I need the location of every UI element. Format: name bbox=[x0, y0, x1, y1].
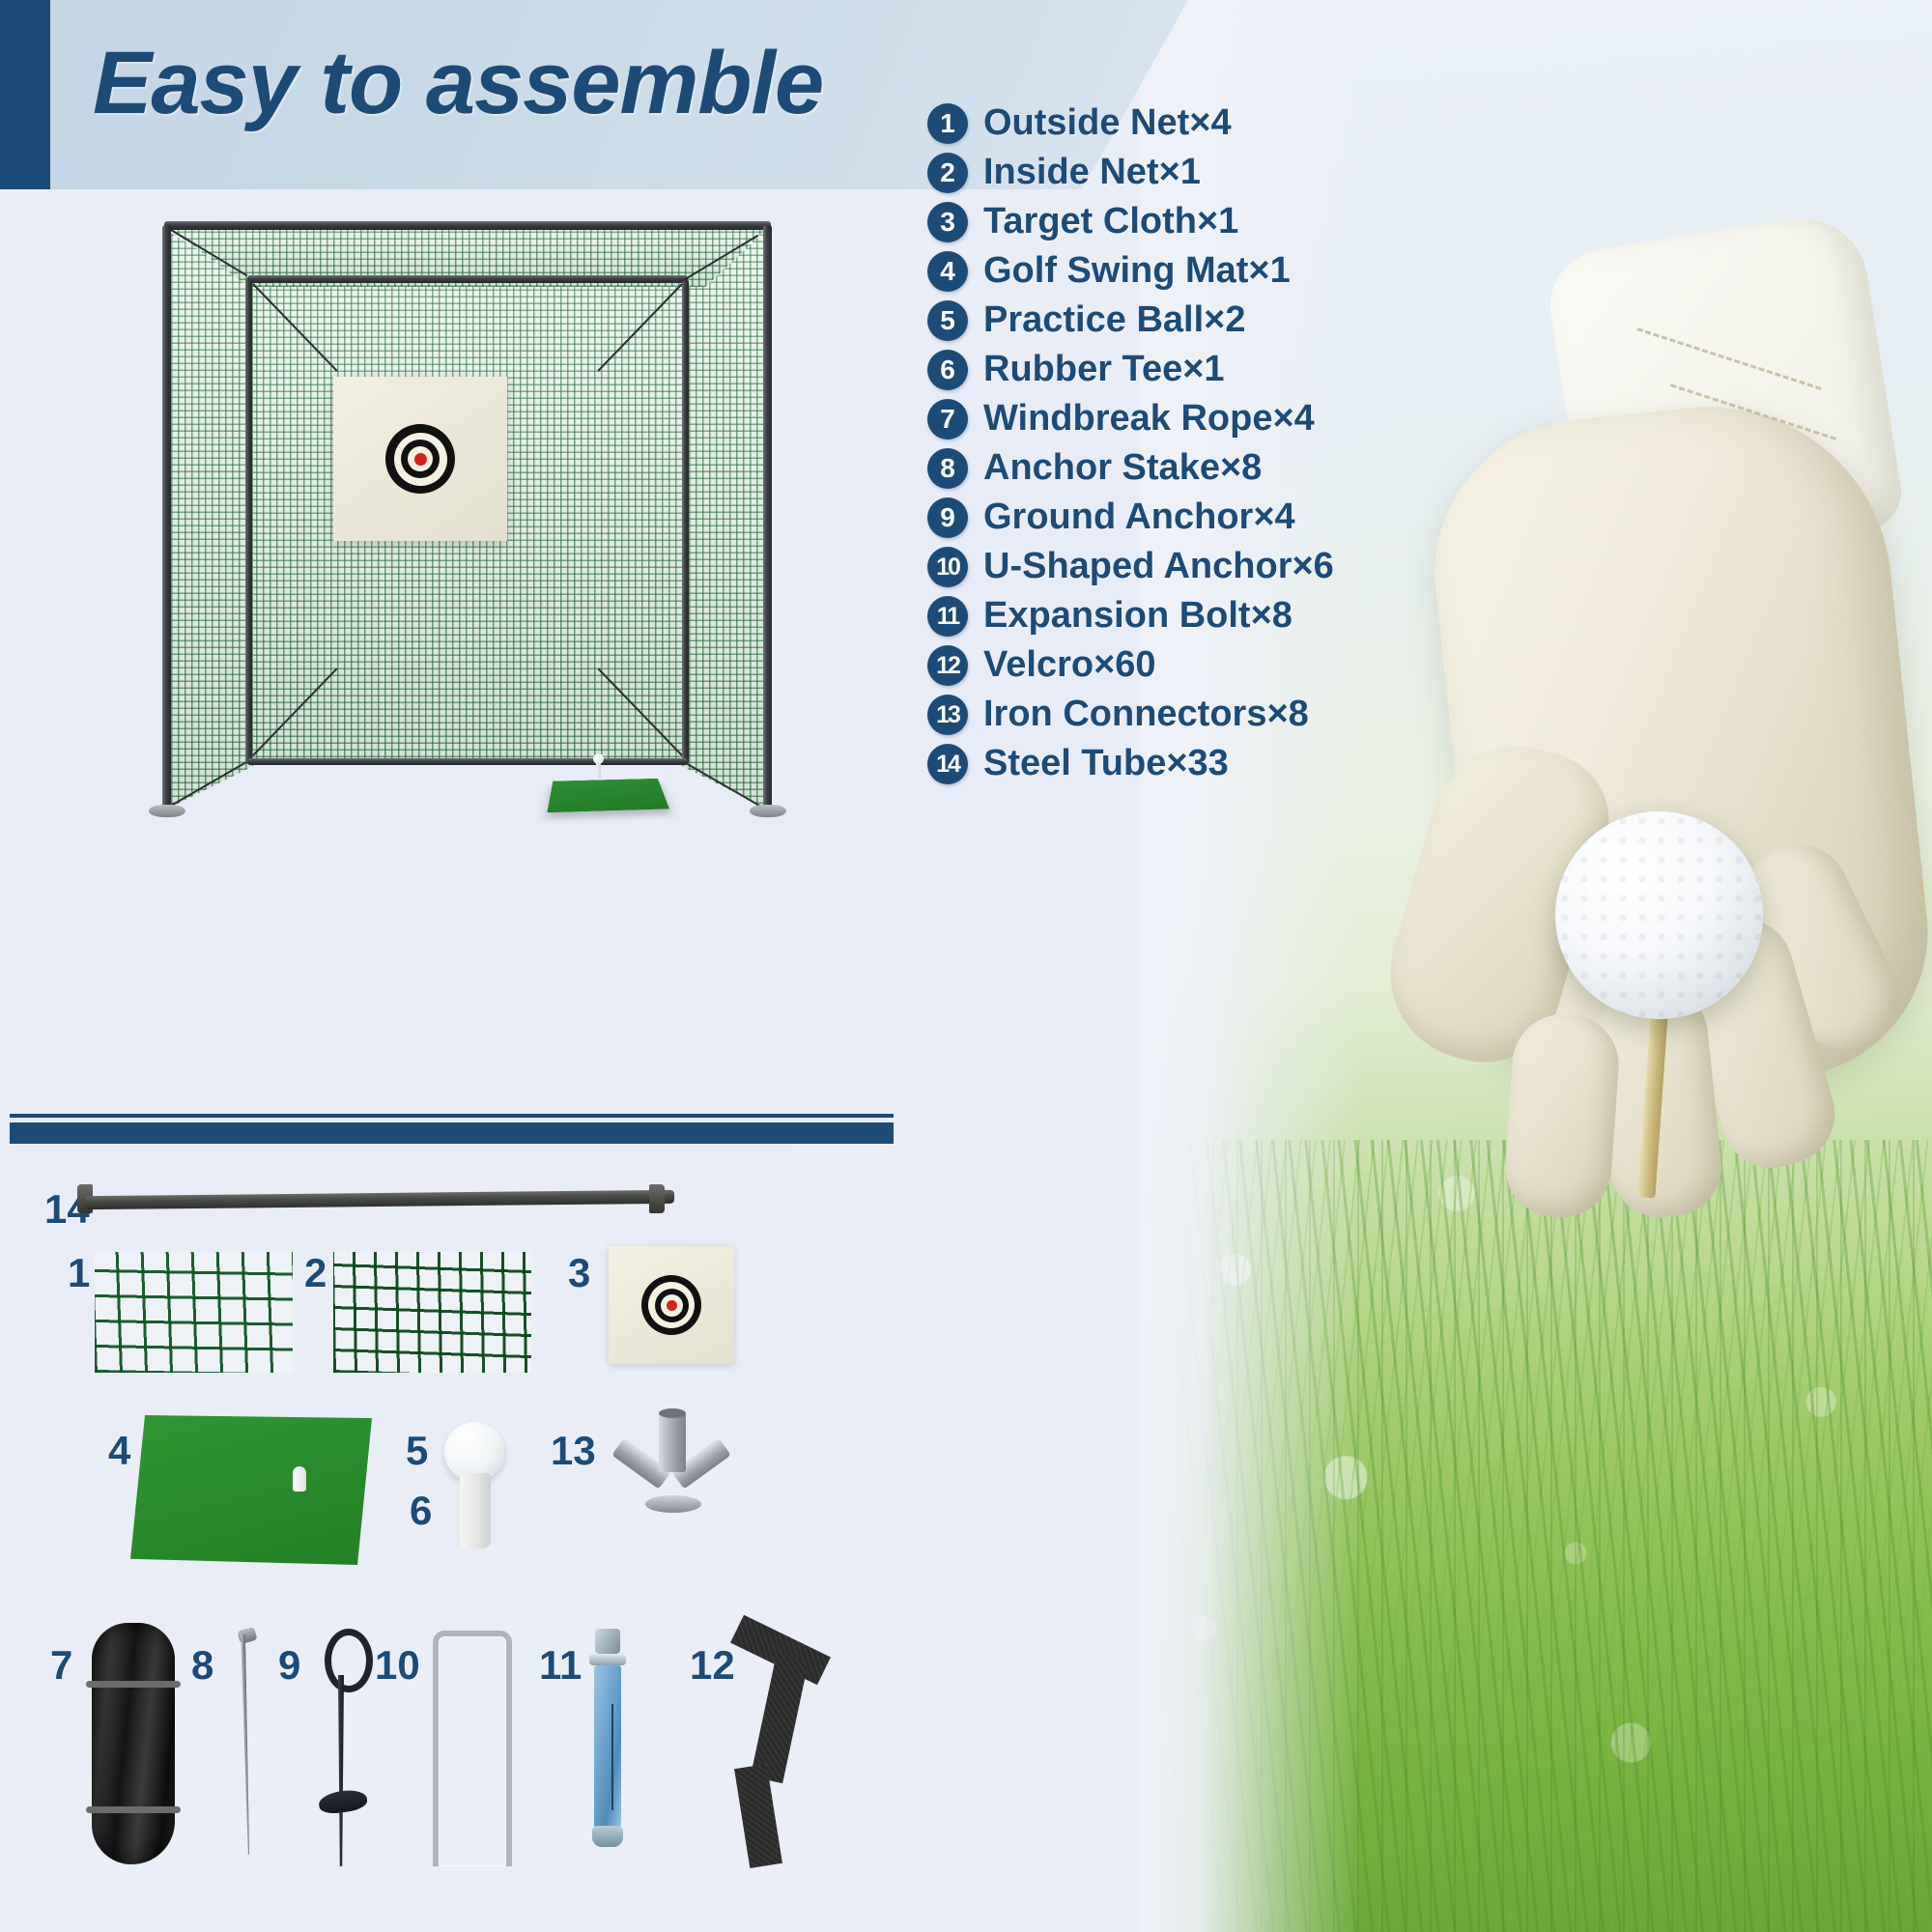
list-item: 12Velcro×60 bbox=[927, 640, 1468, 690]
list-item-label: Inside Net×1 bbox=[983, 152, 1201, 193]
list-item-label: Velcro×60 bbox=[983, 644, 1156, 686]
list-number-badge: 3 bbox=[927, 202, 968, 242]
part-number-inside-net: 2 bbox=[304, 1250, 327, 1296]
anchor-stake-head bbox=[237, 1627, 257, 1644]
list-item: 4Golf Swing Mat×1 bbox=[927, 246, 1468, 296]
section-divider-bar bbox=[10, 1122, 894, 1144]
rubber-tee-part bbox=[460, 1473, 491, 1548]
list-number-badge: 4 bbox=[927, 251, 968, 292]
list-item-label: Golf Swing Mat×1 bbox=[983, 250, 1291, 292]
list-item: 1Outside Net×4 bbox=[927, 99, 1468, 148]
golf-swing-mat-in-scene bbox=[547, 779, 669, 812]
part-number-iron-connector: 13 bbox=[551, 1428, 596, 1474]
list-item: 7Windbreak Rope×4 bbox=[927, 394, 1468, 443]
iron-connector-part bbox=[609, 1412, 734, 1526]
list-item-label: Steel Tube×33 bbox=[983, 743, 1229, 784]
part-number-u-shaped-anchor: 10 bbox=[375, 1642, 420, 1689]
list-number-badge: 11 bbox=[927, 596, 968, 637]
banner-left-accent-bar bbox=[0, 0, 50, 189]
cage-back-right-post bbox=[682, 279, 689, 764]
cage-front-left-post bbox=[162, 225, 171, 810]
part-number-outside-net: 1 bbox=[68, 1250, 90, 1296]
list-number-badge: 7 bbox=[927, 399, 968, 440]
velcro-strip-part bbox=[726, 1634, 833, 1866]
list-number-badge: 1 bbox=[927, 103, 968, 144]
list-item: 5Practice Ball×2 bbox=[927, 296, 1468, 345]
list-number-badge: 6 bbox=[927, 350, 968, 390]
list-item: 11Expansion Bolt×8 bbox=[927, 591, 1468, 640]
list-number-badge: 8 bbox=[927, 448, 968, 489]
cage-left-net-panel bbox=[164, 229, 253, 810]
infographic-canvas: Easy to assemble 1Outside Net×4 2Inside … bbox=[0, 0, 1932, 1932]
part-number-target-cloth: 3 bbox=[568, 1250, 590, 1296]
list-item: 6Rubber Tee×1 bbox=[927, 345, 1468, 394]
target-cloth-part bbox=[609, 1246, 734, 1364]
cage-foot-pad bbox=[149, 805, 185, 817]
list-item-label: Ground Anchor×4 bbox=[983, 497, 1295, 538]
section-divider-line bbox=[10, 1114, 894, 1118]
list-item: 10U-Shaped Anchor×6 bbox=[927, 542, 1468, 591]
part-number-windbreak-rope: 7 bbox=[50, 1642, 72, 1689]
cage-front-top-rail bbox=[164, 221, 771, 230]
cage-back-left-post bbox=[245, 279, 252, 764]
list-number-badge: 10 bbox=[927, 547, 968, 587]
anchor-stake-part bbox=[241, 1634, 251, 1855]
list-number-badge: 13 bbox=[927, 695, 968, 735]
cage-back-bottom-rail bbox=[247, 758, 688, 765]
list-item-label: Anchor Stake×8 bbox=[983, 447, 1262, 489]
list-item-label: Practice Ball×2 bbox=[983, 299, 1245, 341]
list-item-label: Expansion Bolt×8 bbox=[983, 595, 1293, 637]
list-item-label: U-Shaped Anchor×6 bbox=[983, 546, 1334, 587]
list-item: 9Ground Anchor×4 bbox=[927, 493, 1468, 542]
windbreak-rope-part bbox=[92, 1623, 175, 1864]
tee-in-scene bbox=[596, 762, 601, 779]
cage-back-top-rail bbox=[247, 275, 688, 283]
cage-right-net-panel bbox=[682, 229, 771, 810]
list-item: 2Inside Net×1 bbox=[927, 148, 1468, 197]
steel-tube-end-cap bbox=[649, 1184, 665, 1213]
part-number-swing-mat: 4 bbox=[108, 1428, 130, 1474]
list-item-label: Windbreak Rope×4 bbox=[983, 398, 1315, 440]
golf-ball-in-scene bbox=[593, 753, 604, 764]
cage-foot-pad bbox=[750, 805, 786, 817]
part-number-expansion-bolt: 11 bbox=[539, 1642, 582, 1689]
expansion-bolt-part bbox=[591, 1629, 624, 1861]
list-item-label: Target Cloth×1 bbox=[983, 201, 1238, 242]
bullseye-target-icon bbox=[641, 1275, 701, 1335]
rubber-tee-on-mat bbox=[293, 1466, 306, 1492]
list-item: 14Steel Tube×33 bbox=[927, 739, 1468, 788]
golf-swing-mat-part bbox=[130, 1415, 372, 1565]
part-number-anchor-stake: 8 bbox=[191, 1642, 213, 1689]
list-number-badge: 12 bbox=[927, 645, 968, 686]
u-shaped-anchor-part bbox=[433, 1631, 512, 1866]
ground-anchor-part bbox=[311, 1629, 369, 1866]
list-item: 13Iron Connectors×8 bbox=[927, 690, 1468, 739]
list-item-label: Outside Net×4 bbox=[983, 102, 1232, 144]
part-number-rubber-tee: 6 bbox=[410, 1488, 432, 1534]
parts-gallery: 14 1 2 3 4 5 6 13 7 8 bbox=[0, 1159, 927, 1932]
outside-net-swatch bbox=[95, 1252, 293, 1373]
golf-ball-photo bbox=[1555, 811, 1763, 1019]
list-item-label: Rubber Tee×1 bbox=[983, 349, 1225, 390]
list-number-badge: 9 bbox=[927, 497, 968, 538]
part-number-ground-anchor: 9 bbox=[278, 1642, 300, 1689]
list-item: 8Anchor Stake×8 bbox=[927, 443, 1468, 493]
glove-finger bbox=[1502, 1010, 1622, 1220]
list-item-label: Iron Connectors×8 bbox=[983, 694, 1309, 735]
part-number-practice-ball: 5 bbox=[406, 1428, 428, 1474]
cage-front-right-post bbox=[763, 225, 772, 810]
list-number-badge: 2 bbox=[927, 153, 968, 193]
parts-list: 1Outside Net×4 2Inside Net×1 3Target Clo… bbox=[927, 99, 1468, 788]
list-number-badge: 14 bbox=[927, 744, 968, 784]
inside-net-swatch bbox=[333, 1252, 531, 1373]
steel-tube-part bbox=[85, 1190, 674, 1209]
list-number-badge: 5 bbox=[927, 300, 968, 341]
golf-practice-cage-illustration bbox=[145, 208, 773, 845]
list-item: 3Target Cloth×1 bbox=[927, 197, 1468, 246]
page-title: Easy to assemble bbox=[93, 33, 823, 134]
target-cloth-on-net bbox=[333, 377, 507, 541]
bullseye-target-icon bbox=[385, 424, 455, 494]
